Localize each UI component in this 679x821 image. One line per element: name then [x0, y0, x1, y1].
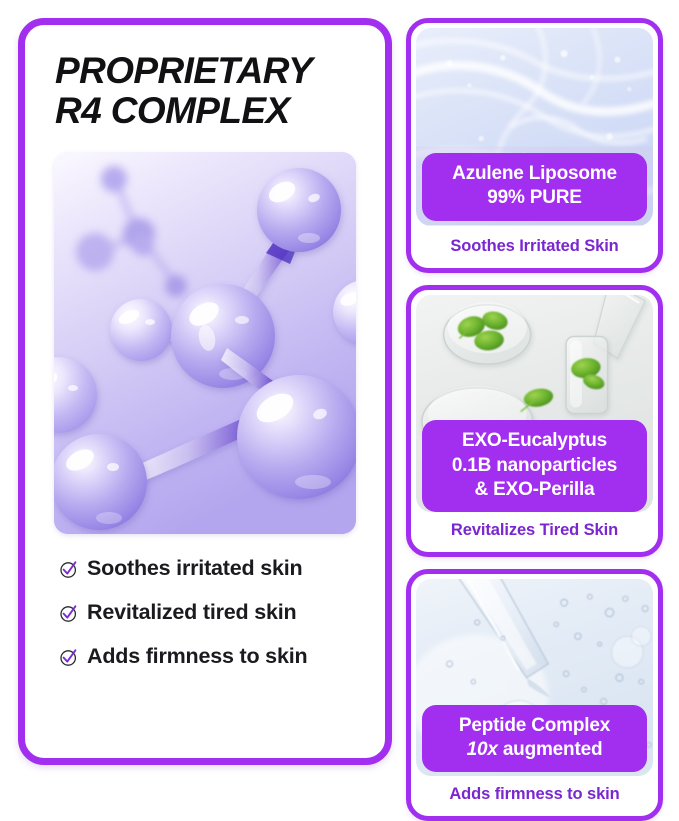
ingredient-banner: Azulene Liposome 99% PURE [422, 153, 647, 220]
banner-emphasis: 10x [467, 739, 498, 760]
benefit-item: Adds firmness to skin [59, 644, 365, 669]
ingredient-caption: Soothes Irritated Skin [416, 226, 653, 264]
benefits-list: Soothes irritated skin Revitalized tired… [59, 556, 365, 669]
benefit-item: Soothes irritated skin [59, 556, 365, 581]
check-circle-icon [59, 648, 78, 667]
title-line-1: PROPRIETARY [55, 51, 365, 91]
infographic-page: PROPRIETARY R4 COMPLEX [0, 0, 679, 781]
molecule-illustration [54, 152, 356, 534]
ingredient-caption: Revitalizes Tired Skin [416, 512, 653, 548]
banner-line: 99% PURE [428, 186, 641, 210]
ingredient-card-azulene-liposome: Azulene Liposome 99% PURE Soothes Irrita… [406, 18, 663, 273]
banner-line: Azulene Liposome [428, 162, 641, 186]
banner-rest: augmented [498, 739, 603, 760]
check-circle-icon [59, 604, 78, 623]
benefit-label: Revitalized tired skin [87, 600, 296, 625]
ingredient-caption: Adds firmness to skin [416, 776, 653, 812]
ingredient-card-peptide-complex: Peptide Complex 10x augmented Adds firmn… [406, 569, 663, 821]
page-title: PROPRIETARY R4 COMPLEX [55, 51, 365, 132]
benefit-label: Soothes irritated skin [87, 556, 302, 581]
left-panel: PROPRIETARY R4 COMPLEX [18, 18, 392, 765]
banner-line: 0.1B nanoparticles [428, 454, 641, 478]
banner-line-mixed: 10x augmented [428, 738, 641, 762]
ingredient-cards-column: Azulene Liposome 99% PURE Soothes Irrita… [406, 18, 665, 765]
ingredient-banner: EXO-Eucalyptus 0.1B nanoparticles & EXO-… [422, 420, 647, 511]
ingredient-banner: Peptide Complex 10x augmented [422, 705, 647, 772]
title-line-2: R4 COMPLEX [55, 91, 365, 131]
ingredient-card-exo-eucalyptus: EXO-Eucalyptus 0.1B nanoparticles & EXO-… [406, 285, 663, 557]
banner-line: Peptide Complex [428, 714, 641, 738]
banner-line: EXO-Eucalyptus [428, 429, 641, 453]
benefit-label: Adds firmness to skin [87, 644, 307, 669]
check-circle-icon [59, 560, 78, 579]
benefit-item: Revitalized tired skin [59, 600, 365, 625]
banner-line: & EXO-Perilla [428, 478, 641, 502]
